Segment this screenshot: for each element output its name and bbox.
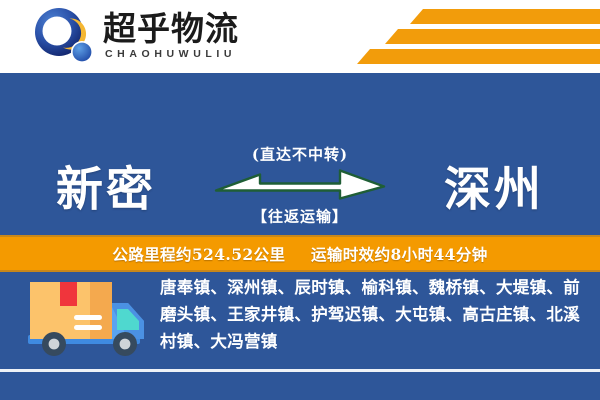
stripe-2 (385, 29, 600, 44)
roundtrip-note-label: 【往返运输】 (205, 206, 395, 227)
duration-label: 运输时效约8小时44分钟 (311, 245, 488, 264)
double-headed-arrow-icon (205, 168, 395, 202)
orange-slanted-stripes-icon (350, 0, 600, 73)
route-banner: 新密 (直达不中转) 【往返运输】 深州 (0, 73, 600, 235)
delivery-truck-icon (22, 277, 150, 361)
covered-towns-list: 唐奉镇、深州镇、辰时镇、榆科镇、魏桥镇、大堤镇、前磨头镇、王家井镇、护驾迟镇、大… (160, 274, 585, 355)
route-info-bar: 公路里程约524.52公里 运输时效约8小时44分钟 (0, 235, 600, 272)
destination-city: 深州 (444, 151, 544, 220)
poster-header: 超乎物流 CHAOHUWULIU (0, 0, 600, 73)
poster-footer (0, 372, 600, 400)
stripe-1 (410, 9, 600, 24)
brand-logo-block: 超乎物流 CHAOHUWULIU (33, 7, 239, 65)
circle-crescent-logo-icon (33, 7, 95, 65)
origin-city: 新密 (56, 151, 156, 220)
brand-name-en: CHAOHUWULIU (103, 48, 239, 60)
logistics-route-poster: 超乎物流 CHAOHUWULIU 新密 (直达不中转) 【往返运输】 深州 公路… (0, 0, 600, 400)
route-middle-block: (直达不中转) 【往返运输】 (205, 144, 395, 227)
info-bar-content: 公路里程约524.52公里 运输时效约8小时44分钟 (112, 243, 487, 265)
coverage-section: 唐奉镇、深州镇、辰时镇、榆科镇、魏桥镇、大堤镇、前磨头镇、王家井镇、护驾迟镇、大… (0, 268, 600, 370)
direct-note-label: (直达不中转) (205, 144, 395, 165)
brand-name-cn: 超乎物流 (103, 12, 239, 47)
stripe-3 (357, 49, 600, 64)
distance-label: 公路里程约524.52公里 (112, 245, 285, 264)
brand-text-block: 超乎物流 CHAOHUWULIU (103, 12, 239, 61)
